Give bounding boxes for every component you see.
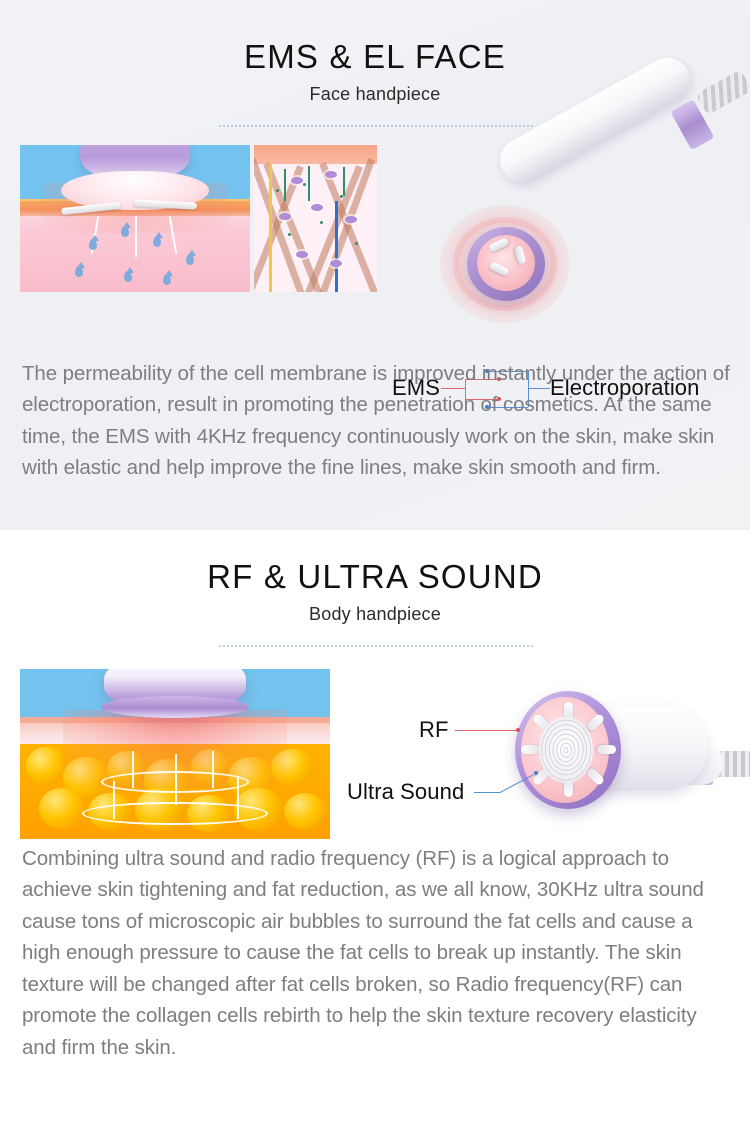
- section-1-figures: EMS Electroporation: [0, 145, 750, 320]
- callout-label-ultra-sound: Ultra Sound: [347, 779, 464, 805]
- ultrasound-transducer-rings: [539, 717, 593, 783]
- rf-leader-line: [455, 730, 518, 731]
- body-handpiece-photo: [395, 669, 750, 864]
- rf-electrode-pad: [521, 745, 540, 754]
- callout-label-rf: RF: [419, 717, 449, 743]
- rf-leader-endpoint: [516, 728, 520, 732]
- face-handpiece-photo: [385, 141, 750, 341]
- section-2-paragraph: Combining ultra sound and radio frequenc…: [22, 843, 734, 1064]
- rf-electrode-pad: [597, 745, 616, 754]
- section-2-title: RF & ULTRA SOUND: [0, 560, 750, 593]
- section-1-title: EMS & EL FACE: [0, 40, 750, 73]
- section-2-subtitle: Body handpiece: [0, 604, 750, 625]
- ultrasound-leader-endpoint: [534, 771, 538, 775]
- product-detail-page: EMS & EL FACE Face handpiece: [0, 0, 750, 1125]
- section-2-figures: RF Ultra Sound: [0, 669, 750, 869]
- section-1-paragraph: The permeability of the cell membrane is…: [22, 358, 734, 484]
- fat-cell-cross-section-image: [20, 669, 330, 839]
- collagen-fiber-network-image: [254, 145, 377, 292]
- section-2-divider: [218, 645, 533, 647]
- section-2-heading: RF & ULTRA SOUND Body handpiece: [0, 530, 750, 647]
- section-1-divider: [218, 125, 533, 127]
- skin-cross-section-ems-image: [20, 145, 250, 292]
- ultrasound-leader-line: [474, 792, 500, 793]
- section-ems-el-face: EMS & EL FACE Face handpiece: [0, 0, 750, 530]
- section-rf-ultra-sound: RF & ULTRA SOUND Body handpiece: [0, 530, 750, 1125]
